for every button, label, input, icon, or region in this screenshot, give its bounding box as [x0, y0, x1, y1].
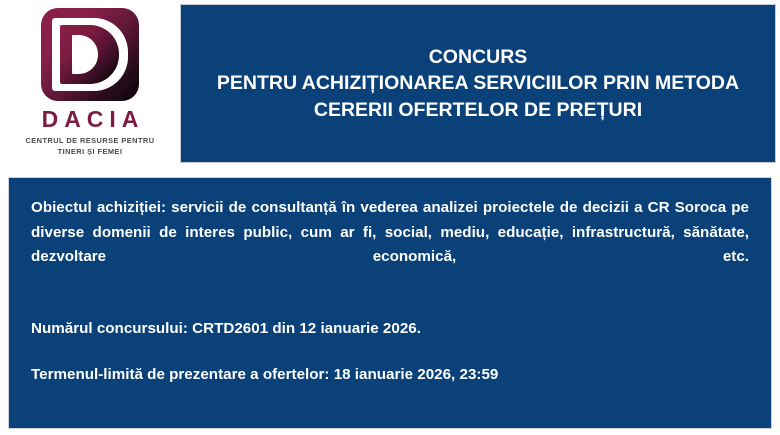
header-title-line-2: PENTRU ACHIZIȚIONAREA SERVICIILOR PRIN M… [217, 70, 739, 96]
header-banner: CONCURS PENTRU ACHIZIȚIONAREA SERVICIILO… [180, 4, 776, 163]
organization-logo-block: DACIA CENTRUL DE RESURSE PENTRU TINERI Ș… [0, 0, 180, 170]
header-title-line-3: CERERII OFERTELOR DE PREȚURI [314, 97, 642, 123]
logo-subtitle-line-2: TINERI ȘI FEMEI [26, 147, 155, 158]
logo-wordmark: DACIA [36, 108, 145, 131]
dacia-d-monogram-icon [41, 8, 139, 101]
contest-number-paragraph: Numărul concursului: CRTD2601 din 12 ian… [31, 317, 749, 342]
submission-deadline-paragraph: Termenul-limită de prezentare a ofertelo… [31, 363, 749, 388]
logo-subtitle-line-1: CENTRUL DE RESURSE PENTRU [26, 136, 155, 147]
logo-subtitle: CENTRUL DE RESURSE PENTRU TINERI ȘI FEME… [26, 136, 155, 157]
procurement-object-paragraph: Obiectul achiziției: servicii de consult… [31, 196, 749, 295]
announcement-body-panel: Obiectul achiziției: servicii de consult… [8, 177, 772, 429]
header-title-line-1: CONCURS [429, 44, 528, 70]
